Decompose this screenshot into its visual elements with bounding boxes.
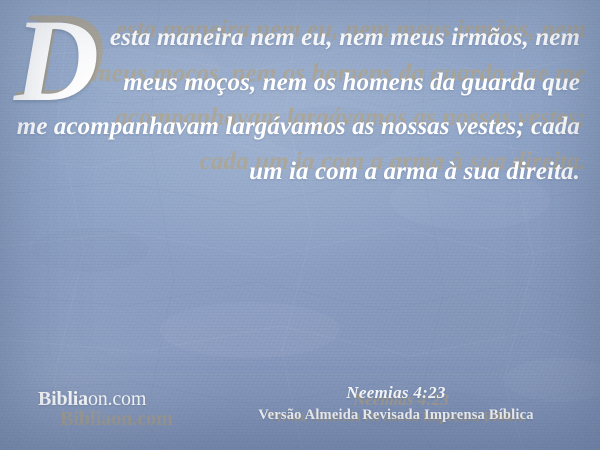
bibliaon-logo[interactable]: Bibliaon.com xyxy=(38,388,146,411)
bible-version: Versão Almeida Revisada Imprensa Bíblica xyxy=(200,405,592,425)
verse-dropcap: D xyxy=(14,10,99,111)
card-footer: Bibliaon.com Neemias 4:23 Versão Almeida… xyxy=(0,382,600,450)
verse-reference: Neemias 4:23 xyxy=(200,382,592,404)
verse-card: D esta maneira nem eu, nem meus irmãos, … xyxy=(0,0,600,450)
verse-body: esta maneira nem eu, nem meus irmãos, ne… xyxy=(17,24,580,185)
logo-bold-part: Biblia xyxy=(38,388,88,410)
main-text-layer: Desta maneira nem eu, nem meus irmãos, n… xyxy=(0,0,600,450)
logo-light-part: on.com xyxy=(88,388,146,410)
reference-block: Neemias 4:23 Versão Almeida Revisada Imp… xyxy=(200,382,592,425)
verse-paragraph: Desta maneira nem eu, nem meus irmãos, n… xyxy=(14,16,580,194)
